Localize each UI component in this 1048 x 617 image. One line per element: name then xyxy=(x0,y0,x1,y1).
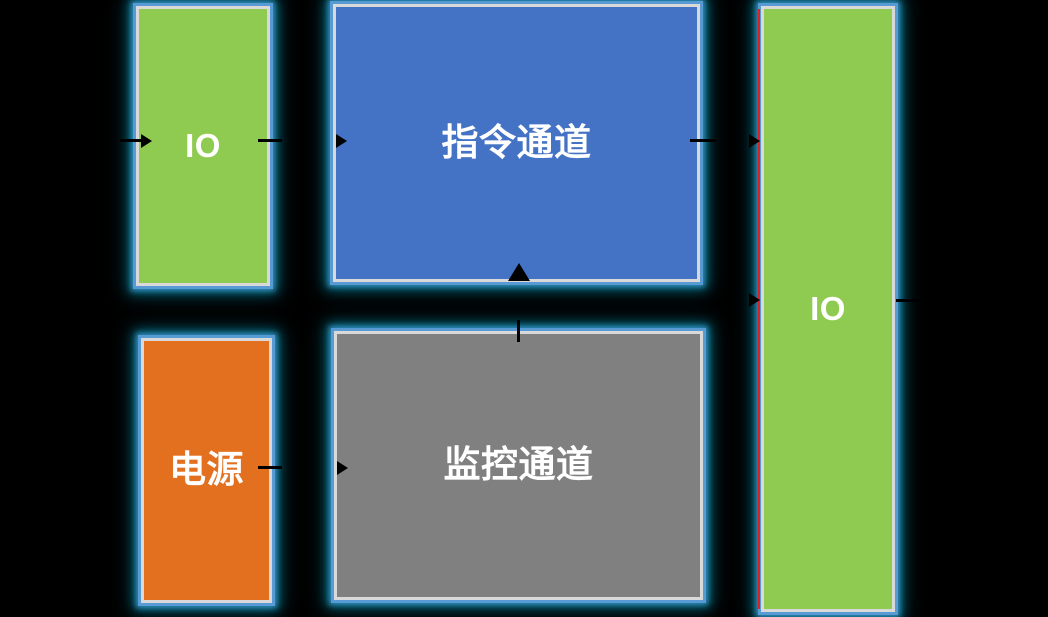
arrowhead-power-to-monitor-icon xyxy=(337,461,348,475)
arrowhead-io-left-to-command-icon xyxy=(336,134,347,148)
arrowhead-monitor-to-command-icon xyxy=(508,263,530,281)
connector-stub-io-left-out xyxy=(258,139,282,142)
block-command-channel[interactable]: 指令通道 xyxy=(333,4,700,282)
block-monitor-channel[interactable]: 监控通道 xyxy=(334,331,703,600)
block-io-right-label: IO xyxy=(810,291,846,327)
block-power-label: 电源 xyxy=(169,450,244,491)
diagram-canvas: IO 指令通道 电源 监控通道 IO xyxy=(0,0,1048,617)
block-io-left[interactable]: IO xyxy=(136,6,270,286)
arrowhead-command-to-io-right-icon xyxy=(749,134,760,148)
block-io-right[interactable]: IO xyxy=(761,6,895,612)
connector-stub-monitor-top xyxy=(517,320,520,342)
block-monitor-channel-label: 监控通道 xyxy=(444,445,594,486)
connector-stub-power-out xyxy=(258,466,282,469)
block-power[interactable]: 电源 xyxy=(141,338,272,603)
block-io-left-label: IO xyxy=(185,128,221,164)
block-command-channel-label: 指令通道 xyxy=(442,123,592,164)
connector-stub-io-left-inbound xyxy=(120,139,142,142)
connector-stub-command-out xyxy=(690,139,716,142)
arrowhead-io-left-inbound-icon xyxy=(141,134,152,148)
connector-stub-io-right-out xyxy=(896,299,922,302)
arrowhead-monitor-to-io-right-icon xyxy=(749,293,760,307)
